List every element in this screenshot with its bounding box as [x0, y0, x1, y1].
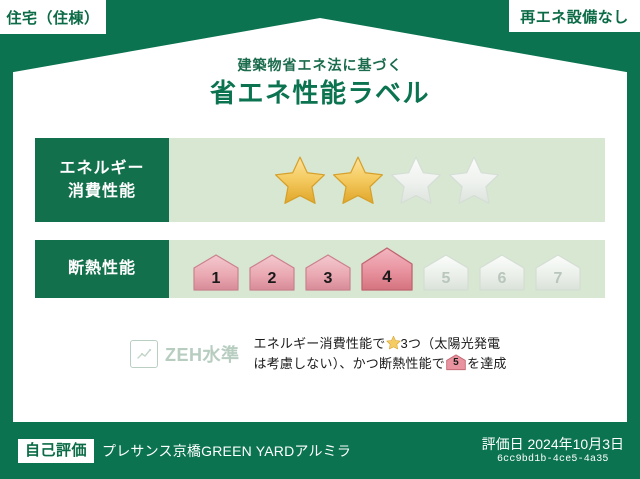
insulation-level-1: 1: [190, 253, 242, 293]
footer-left: 自己評価 プレサンス京橋GREEN YARDアルミラ: [18, 439, 351, 463]
self-evaluation-chip: 自己評価: [18, 439, 94, 463]
inline-house-number: 5: [445, 355, 467, 371]
row-label-energy: エネルギー 消費性能: [35, 138, 169, 222]
insulation-level-3-number: 3: [302, 270, 354, 288]
row-label-insulation: 断熱性能: [35, 240, 169, 298]
insulation-level-5: 5: [420, 253, 472, 293]
heading-block: 建築物省エネ法に基づく 省エネ性能ラベル: [0, 58, 640, 108]
inline-house-icon: 5: [445, 354, 467, 371]
tag-renewable-energy: 再エネ設備なし: [509, 0, 640, 32]
insulation-level-6: 6: [476, 253, 528, 293]
tag-housing-type: 住宅（住棟）: [0, 0, 106, 34]
zeh-desc-part4: を達成: [467, 356, 507, 371]
row-insulation-performance: 断熱性能 1: [35, 240, 605, 298]
insulation-level-4-number: 4: [358, 267, 416, 287]
row-body-insulation: 1 2: [169, 240, 605, 298]
star-icon-2: [331, 154, 385, 206]
zeh-section: ZEH水準 エネルギー消費性能で3つ（太陽光発電は考慮しない）、かつ断熱性能で5…: [130, 334, 550, 374]
zeh-label: ZEH水準: [165, 341, 240, 367]
energy-performance-label: 住宅（住棟） 再エネ設備なし 建築物省エネ法に基づく 省エネ性能ラベル エネルギ…: [0, 0, 640, 479]
star-icon-1: [273, 154, 327, 206]
insulation-level-2: 2: [246, 253, 298, 293]
zeh-desc-part2: 3つ（太陽光発電: [401, 336, 501, 351]
row-label-energy-line2: 消費性能: [68, 180, 136, 203]
zeh-trend-icon: [135, 345, 153, 363]
insulation-level-3: 3: [302, 253, 354, 293]
zeh-desc-part3: は考慮しない）、かつ断熱性能で: [254, 356, 446, 371]
heading-subtitle: 建築物省エネ法に基づく: [0, 58, 640, 73]
footer-right: 評価日 2024年10月3日 6cc9bd1b-4ce5-4a35: [482, 435, 624, 465]
insulation-level-7-number: 7: [532, 270, 584, 288]
insulation-level-5-number: 5: [420, 270, 472, 288]
evaluation-date: 評価日 2024年10月3日: [482, 435, 624, 453]
insulation-level-4-achieved: 4: [358, 246, 416, 293]
zeh-mark: ZEH水準: [130, 340, 240, 368]
insulation-level-6-number: 6: [476, 270, 528, 288]
insulation-level-2-number: 2: [246, 270, 298, 288]
insulation-level-7: 7: [532, 253, 584, 293]
star-icon-3-empty: [389, 154, 443, 206]
star-icon-4-empty: [447, 154, 501, 206]
row-label-energy-line1: エネルギー: [59, 157, 144, 180]
evaluation-id: 6cc9bd1b-4ce5-4a35: [482, 454, 624, 465]
row-body-energy: [169, 138, 605, 222]
insulation-level-1-number: 1: [190, 270, 242, 288]
star-rating: [273, 154, 501, 206]
building-name: プレサンス京橋GREEN YARDアルミラ: [102, 441, 351, 461]
row-label-insulation-line1: 断熱性能: [68, 257, 136, 280]
zeh-chart-icon: [130, 340, 158, 368]
row-energy-performance: エネルギー 消費性能: [35, 138, 605, 222]
zeh-desc-part1: エネルギー消費性能で: [254, 336, 386, 351]
heading-title: 省エネ性能ラベル: [0, 79, 640, 108]
inline-star-icon: [386, 335, 401, 350]
insulation-level-scale: 1 2: [190, 246, 584, 293]
zeh-description: エネルギー消費性能で3つ（太陽光発電は考慮しない）、かつ断熱性能で5を達成: [254, 334, 507, 374]
